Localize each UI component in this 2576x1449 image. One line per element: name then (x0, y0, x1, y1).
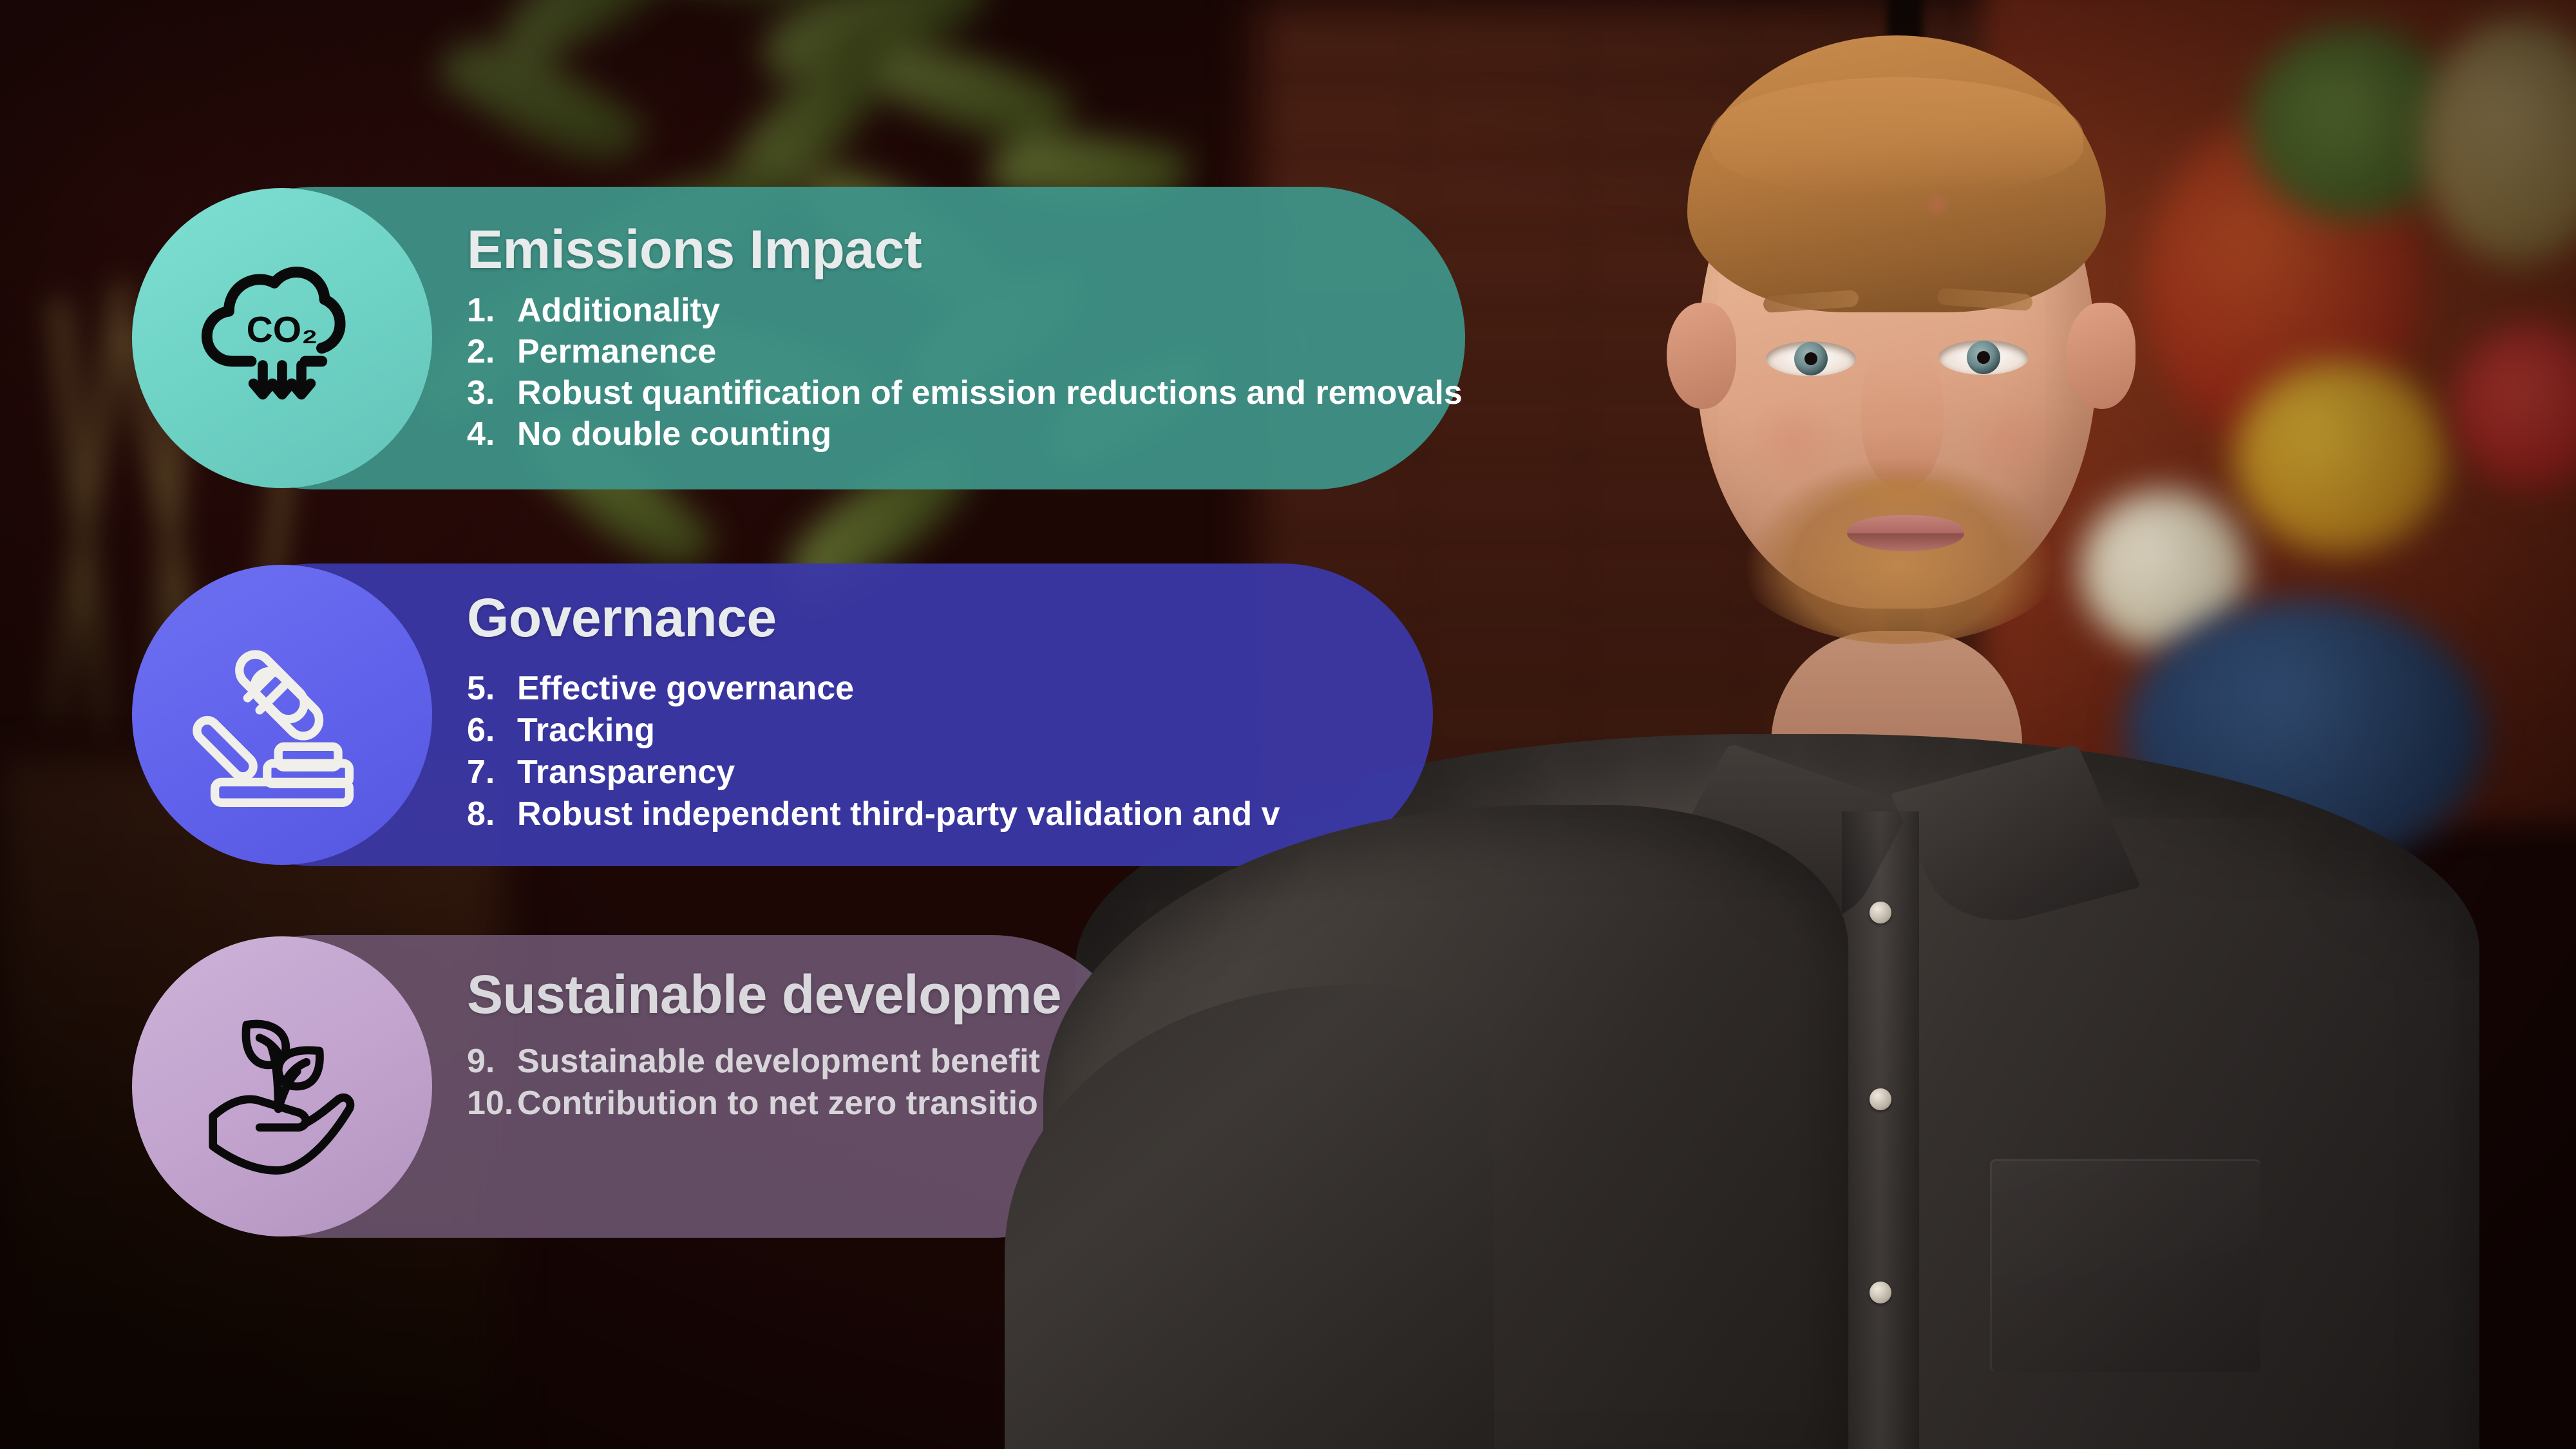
list-item-text: Contribution to net zero transitio (517, 1083, 1038, 1124)
list-item: 8. Robust independent third-party valida… (467, 793, 1280, 835)
list-item-number: 2. (467, 332, 517, 373)
list-item-text: Tracking (517, 710, 655, 752)
list-item-number: 8. (467, 793, 517, 835)
list-item-number: 6. (467, 710, 517, 752)
card-content: Sustainable developme 9. Sustainable dev… (467, 967, 1061, 1124)
list-item: 3. Robust quantification of emission red… (467, 373, 1463, 414)
card-icon-circle (132, 936, 432, 1236)
card-list: 5. Effective governance 6. Tracking 7. T… (467, 668, 1280, 835)
card-sustainable-development[interactable]: Sustainable developme 9. Sustainable dev… (164, 935, 1143, 1238)
list-item-number: 4. (467, 414, 517, 455)
list-item: 7. Transparency (467, 752, 1280, 793)
list-item-number: 9. (467, 1041, 517, 1083)
list-item-text: Permanence (517, 332, 716, 373)
list-item-text: Transparency (517, 752, 735, 793)
card-list: 1. Additionality 2. Permanence 3. Robust… (467, 290, 1463, 455)
list-item: 6. Tracking (467, 710, 1280, 752)
list-item: 10. Contribution to net zero transitio (467, 1083, 1061, 1124)
list-item-number: 1. (467, 290, 517, 332)
list-item-text: No double counting (517, 414, 831, 455)
video-frame: CO₂ Emissions Impact 1. Additionality (0, 0, 2576, 1449)
card-governance[interactable]: Governance 5. Effective governance 6. Tr… (164, 563, 1433, 866)
list-item-text: Sustainable development benefit (517, 1041, 1040, 1083)
plant-in-hand-icon (189, 993, 375, 1180)
list-item-text: Robust independent third-party validatio… (517, 793, 1280, 835)
card-emissions-impact[interactable]: CO₂ Emissions Impact 1. Additionality (164, 187, 1465, 489)
card-title: Governance (467, 591, 1280, 645)
card-content: Emissions Impact 1. Additionality 2. Per… (467, 222, 1463, 455)
card-icon-circle: CO₂ (132, 188, 432, 488)
list-item: 4. No double counting (467, 414, 1463, 455)
list-item-text: Effective governance (517, 668, 854, 710)
list-item-text: Robust quantification of emission reduct… (517, 373, 1463, 414)
list-item: 5. Effective governance (467, 668, 1280, 710)
card-list: 9. Sustainable development benefit 10. C… (467, 1041, 1061, 1124)
list-item-number: 5. (467, 668, 517, 710)
card-title: Emissions Impact (467, 222, 1463, 276)
list-item: 1. Additionality (467, 290, 1463, 332)
list-item-number: 3. (467, 373, 517, 414)
co2-label: CO₂ (247, 309, 318, 350)
list-item-text: Additionality (517, 290, 720, 332)
card-title: Sustainable developme (467, 967, 1061, 1021)
gavel-icon (189, 621, 375, 808)
list-item-number: 7. (467, 752, 517, 793)
co2-cloud-icon: CO₂ (185, 241, 379, 435)
card-icon-circle (132, 565, 432, 865)
list-item: 9. Sustainable development benefit (467, 1041, 1061, 1083)
card-content: Governance 5. Effective governance 6. Tr… (467, 591, 1280, 835)
list-item: 2. Permanence (467, 332, 1463, 373)
list-item-number: 10. (467, 1083, 517, 1124)
